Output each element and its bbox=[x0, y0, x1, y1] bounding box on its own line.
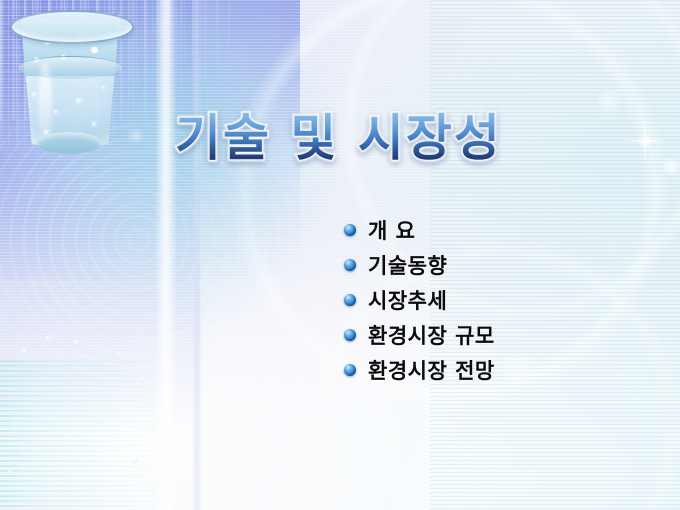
glass-water-surface bbox=[18, 56, 122, 79]
glass-highlight bbox=[38, 62, 52, 148]
checkered-mosaic-pattern bbox=[0, 0, 196, 150]
bokeh-dot-left-2 bbox=[128, 128, 144, 144]
list-item[interactable]: 환경시장 규모 bbox=[344, 317, 495, 352]
vertical-light-divider-2 bbox=[192, 0, 202, 510]
blue-sphere-bullet-icon bbox=[344, 329, 356, 341]
list-item-label: 시장추세 bbox=[368, 285, 447, 315]
glass-base bbox=[36, 132, 102, 154]
blue-sphere-bullet-icon bbox=[344, 224, 356, 236]
blue-sphere-bullet-icon bbox=[344, 364, 356, 376]
agenda-list: 개 요 기술동향 시장추세 환경시장 규모 환경시장 전망 bbox=[344, 212, 495, 387]
air-bubbles bbox=[0, 330, 180, 510]
list-item[interactable]: 개 요 bbox=[344, 212, 495, 247]
list-item-label: 환경시장 규모 bbox=[368, 320, 495, 350]
list-item-label: 환경시장 전망 bbox=[368, 355, 495, 385]
bokeh-dot-left bbox=[90, 96, 110, 116]
blue-sphere-bullet-icon bbox=[344, 294, 356, 306]
list-item[interactable]: 기술동향 bbox=[344, 247, 495, 282]
bokeh-dot-right bbox=[662, 158, 680, 176]
list-item[interactable]: 환경시장 전망 bbox=[344, 352, 495, 387]
blue-sphere-bullet-icon bbox=[344, 259, 356, 271]
page-title: 기술 및 시장성 bbox=[175, 110, 645, 168]
bokeh-dot-center bbox=[500, 352, 534, 386]
list-item-label: 개 요 bbox=[368, 215, 415, 245]
list-item-label: 기술동향 bbox=[368, 250, 447, 280]
cyan-glow-bottom-right bbox=[0, 0, 340, 340]
list-item[interactable]: 시장추세 bbox=[344, 282, 495, 317]
star-sparkle-top-left-icon bbox=[104, 12, 134, 42]
presentation-slide: 기술 및 시장성 기술 및 시장성 개 요 기술동향 시장추세 환경시장 규모 … bbox=[0, 0, 680, 510]
